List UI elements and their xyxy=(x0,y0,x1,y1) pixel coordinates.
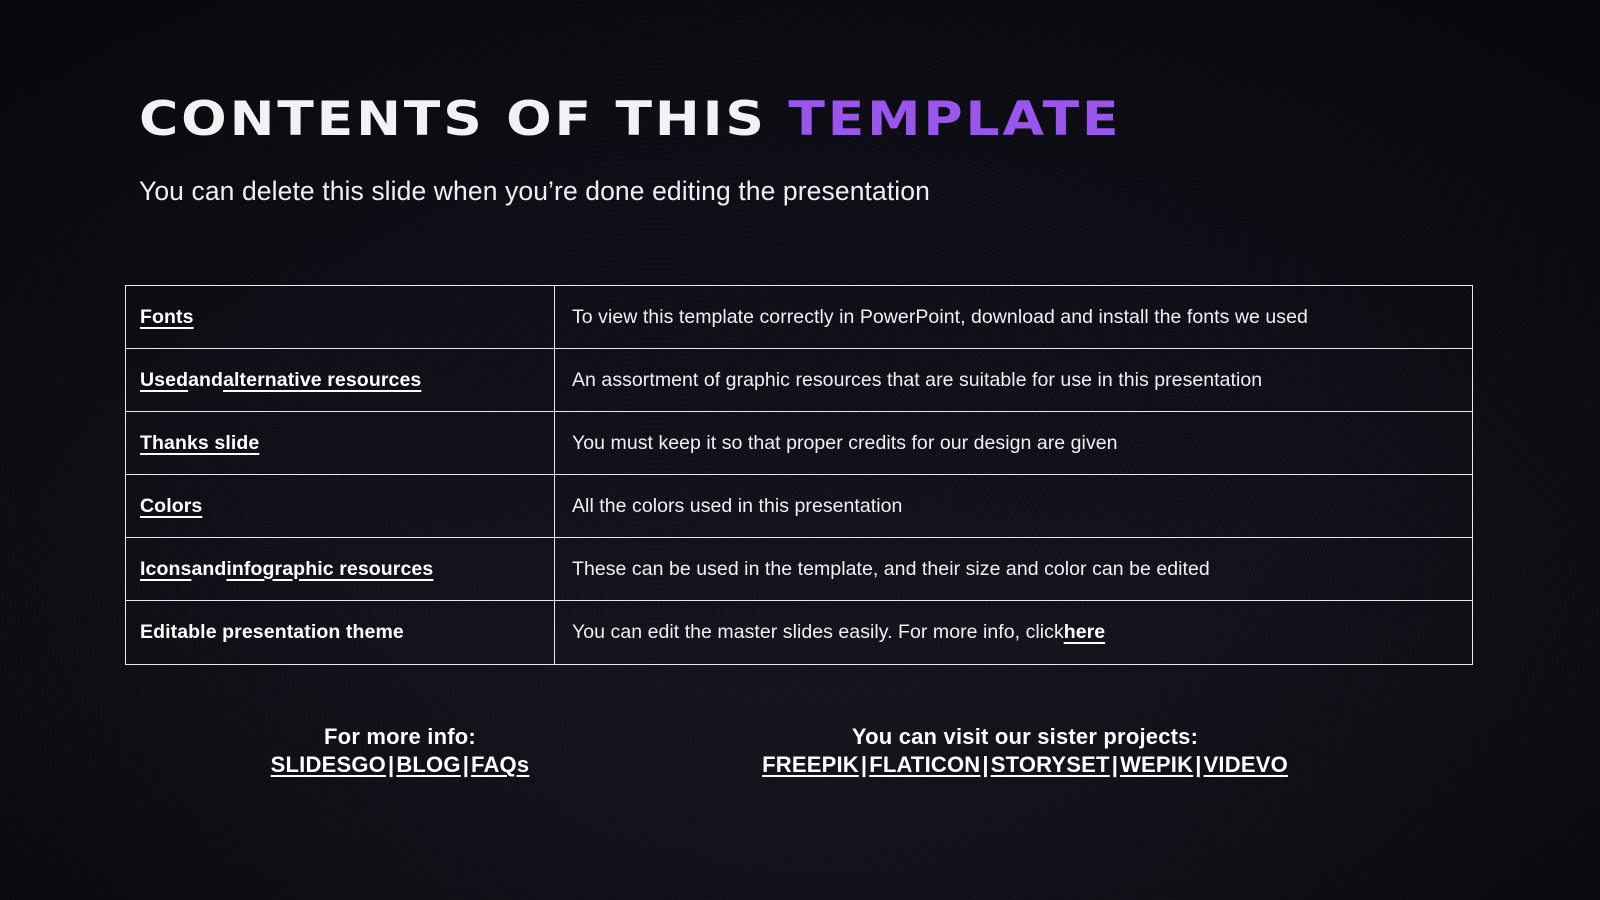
table-row: Used and alternative resourcesAn assortm… xyxy=(126,349,1472,412)
table-row-description: To view this template correctly in Power… xyxy=(555,286,1472,348)
table-row-label-link[interactable]: alternative resources xyxy=(223,369,421,392)
table-row-label: Icons and infographic resources xyxy=(126,538,555,600)
table-row-description-text: These can be used in the template, and t… xyxy=(572,558,1210,581)
page-title-main: CONTENTS OF THIS xyxy=(139,92,788,147)
table-row-description-text: You can edit the master slides easily. F… xyxy=(572,621,1064,644)
table-row-description: All the colors used in this presentation xyxy=(555,475,1472,537)
footer-link-storyset[interactable]: STORYSET xyxy=(991,752,1110,777)
table-row-description: You can edit the master slides easily. F… xyxy=(555,601,1472,664)
table-row-label-link[interactable]: Used xyxy=(140,369,188,392)
footer-sister-projects-heading: You can visit our sister projects: xyxy=(700,723,1350,750)
footer-link-separator: | xyxy=(1193,751,1203,779)
footer-link-separator: | xyxy=(859,751,869,779)
footer-link-videvo[interactable]: VIDEVO xyxy=(1204,752,1288,777)
table-row-label: Colors xyxy=(126,475,555,537)
footer-more-info-links: SLIDESGO|BLOG|FAQs xyxy=(180,751,620,779)
table-row-description-text: An assortment of graphic resources that … xyxy=(572,369,1262,392)
table-row-label: Fonts xyxy=(126,286,555,348)
table-row: ColorsAll the colors used in this presen… xyxy=(126,475,1472,538)
footer-more-info: For more info: SLIDESGO|BLOG|FAQs xyxy=(180,723,620,779)
footer-link-freepik[interactable]: FREEPIK xyxy=(762,752,859,777)
table-row-description-link[interactable]: here xyxy=(1064,621,1105,644)
table-row: Editable presentation themeYou can edit … xyxy=(126,601,1472,664)
table-row-description: You must keep it so that proper credits … xyxy=(555,412,1472,474)
table-row-description-text: You must keep it so that proper credits … xyxy=(572,432,1118,455)
table-row-label-link[interactable]: Colors xyxy=(140,495,202,518)
page-subtitle: You can delete this slide when you’re do… xyxy=(139,176,930,207)
footer-link-blog[interactable]: BLOG xyxy=(396,752,460,777)
table-row: FontsTo view this template correctly in … xyxy=(126,286,1472,349)
table-row-label-text: Editable presentation theme xyxy=(140,621,404,644)
table-row-label: Editable presentation theme xyxy=(126,601,555,664)
table-row-label-link[interactable]: Fonts xyxy=(140,306,194,329)
footer-link-faqs[interactable]: FAQs xyxy=(471,752,529,777)
footer-link-separator: | xyxy=(461,751,471,779)
footer-link-wepik[interactable]: WEPIK xyxy=(1120,752,1193,777)
table-row-description-text: All the colors used in this presentation xyxy=(572,495,902,518)
footer-link-separator: | xyxy=(1110,751,1120,779)
page-title: CONTENTS OF THIS TEMPLATE xyxy=(139,96,1121,143)
footer-link-slidesgo[interactable]: SLIDESGO xyxy=(271,752,386,777)
footer-more-info-heading: For more info: xyxy=(180,723,620,750)
table-row-label: Used and alternative resources xyxy=(126,349,555,411)
table-row-label: Thanks slide xyxy=(126,412,555,474)
table-row-description-text: To view this template correctly in Power… xyxy=(572,306,1308,329)
table-row-label-link[interactable]: infographic resources xyxy=(226,558,433,581)
table-row-description: These can be used in the template, and t… xyxy=(555,538,1472,600)
footer-sister-projects-links: FREEPIK|FLATICON|STORYSET|WEPIK|VIDEVO xyxy=(700,751,1350,779)
table-row-label-link[interactable]: Thanks slide xyxy=(140,432,259,455)
table-row: Thanks slideYou must keep it so that pro… xyxy=(126,412,1472,475)
footer-sister-projects: You can visit our sister projects: FREEP… xyxy=(700,723,1350,779)
footer-link-separator: | xyxy=(980,751,990,779)
table-row-label-link[interactable]: Icons xyxy=(140,558,191,581)
table-row: Icons and infographic resourcesThese can… xyxy=(126,538,1472,601)
footer-link-flaticon[interactable]: FLATICON xyxy=(869,752,980,777)
footer-link-separator: | xyxy=(386,751,396,779)
contents-table: FontsTo view this template correctly in … xyxy=(125,285,1473,665)
table-row-label-text: and xyxy=(191,558,226,581)
page-title-accent: TEMPLATE xyxy=(788,92,1121,147)
table-row-label-text: and xyxy=(188,369,223,392)
slide-canvas: CONTENTS OF THIS TEMPLATE You can delete… xyxy=(0,0,1600,900)
table-row-description: An assortment of graphic resources that … xyxy=(555,349,1472,411)
